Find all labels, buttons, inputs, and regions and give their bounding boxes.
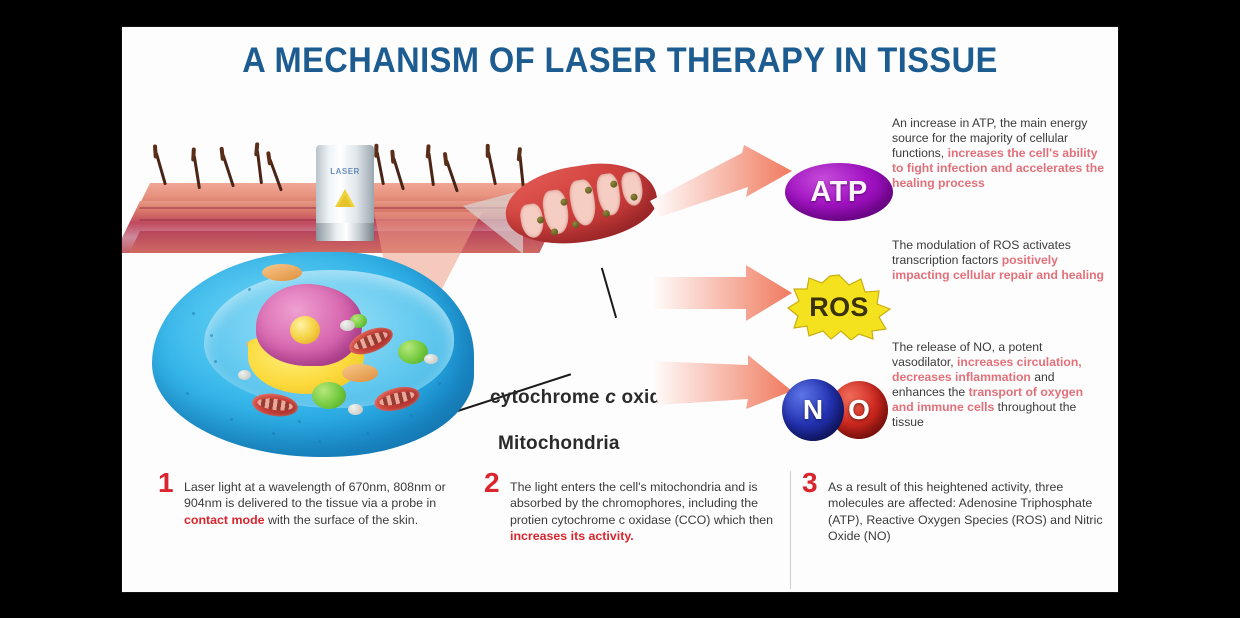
nitrogen-sphere: N: [782, 379, 844, 441]
screenshot-stage: A MECHANISM OF LASER THERAPY IN TISSUE L…: [0, 0, 1240, 618]
caption-3-text: As a result of this heightened activity,…: [828, 480, 1103, 543]
lysosome-vesicle: [312, 382, 346, 409]
atp-molecule-badge: ATP: [785, 163, 893, 221]
page-title: A MECHANISM OF LASER THERAPY IN TISSUE: [157, 41, 1083, 81]
caption-2: 2 The light enters the cell's mitochondr…: [510, 479, 796, 545]
golgi-vesicle: [342, 364, 378, 382]
ros-molecule-badge: ROS: [787, 274, 891, 340]
cytochrome-label-italic: c: [605, 387, 616, 408]
caption-3: 3 As a result of this heightened activit…: [828, 479, 1114, 545]
nucleolus: [290, 316, 320, 344]
laser-warning-triangle-inner-icon: [338, 195, 352, 207]
animal-cell-illustration: [152, 242, 482, 472]
ros-badge-label: ROS: [809, 292, 868, 323]
hair-follicle-icon: [256, 150, 263, 184]
hair-follicle-icon: [376, 151, 385, 185]
caption-2-text: The light enters the cell's mitochondria…: [510, 480, 773, 543]
cytochrome-leader-line: [601, 268, 617, 318]
mitochondria-label: Mitochondria: [498, 433, 620, 455]
small-vesicle: [340, 320, 355, 331]
small-vesicle: [238, 370, 251, 380]
golgi-vesicle: [262, 264, 302, 281]
probe-metal-collar: [316, 223, 374, 241]
no-molecule-badge: O N: [782, 379, 894, 441]
infographic-panel: A MECHANISM OF LASER THERAPY IN TISSUE L…: [122, 27, 1118, 592]
mitochondrion-closeup-illustration: [477, 152, 677, 267]
atp-description: An increase in ATP, the main energy sour…: [892, 116, 1104, 191]
caption-1: 1 Laser light at a wavelength of 670nm, …: [184, 479, 470, 528]
no-description: The release of NO, a potent vasodilator,…: [892, 340, 1104, 430]
arrow-to-ros: [650, 265, 792, 321]
hair-follicle-icon: [155, 152, 167, 186]
small-vesicle: [348, 404, 363, 415]
arrow-to-no: [650, 345, 792, 417]
small-vesicle: [424, 354, 438, 364]
hair-follicle-icon: [427, 152, 435, 186]
caption-1-number: 1: [158, 475, 174, 491]
cytochrome-label-pre: cytochrome: [490, 387, 605, 408]
mitochondrion-body: [500, 155, 662, 254]
ros-description: The modulation of ROS activates transcri…: [892, 238, 1104, 283]
nitrogen-label: N: [782, 379, 844, 441]
caption-2-number: 2: [484, 475, 500, 491]
caption-1-text: Laser light at a wavelength of 670nm, 80…: [184, 480, 446, 527]
probe-brand-label: LASER: [316, 167, 374, 176]
crista: [620, 170, 645, 207]
atp-badge-label: ATP: [785, 163, 893, 221]
arrow-to-atp: [650, 145, 792, 217]
caption-3-number: 3: [802, 475, 818, 491]
crista: [567, 178, 598, 227]
